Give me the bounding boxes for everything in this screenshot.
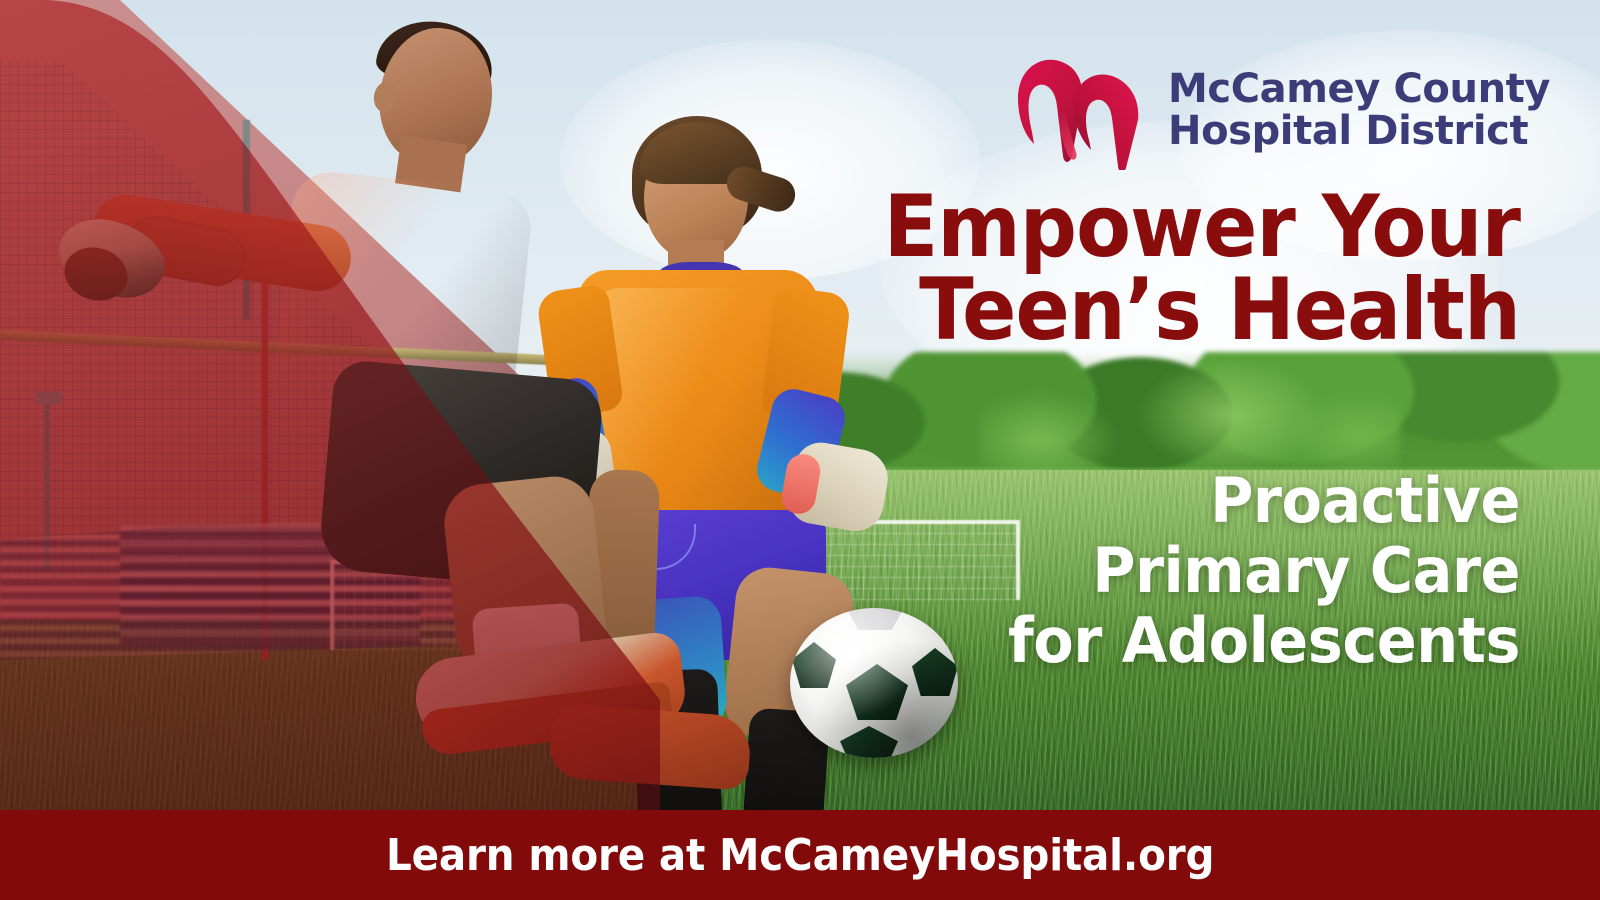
brand-logo[interactable]: McCamey County Hospital District xyxy=(1012,52,1550,170)
headline-line2: Teen’s Health xyxy=(813,269,1520,352)
headline: Empower Your Teen’s Health xyxy=(813,186,1520,353)
brand-wordmark: McCamey County Hospital District xyxy=(1168,69,1550,152)
subheadline-line2: Primary Care xyxy=(893,536,1520,606)
heart-m-logo-icon xyxy=(1012,52,1150,170)
brand-name-line1: McCamey County xyxy=(1168,69,1550,111)
subheadline-line1: Proactive xyxy=(893,466,1520,536)
footer-cta-bar[interactable]: Learn more at McCameyHospital.org xyxy=(0,810,1600,900)
footer-cta-text: Learn more at McCameyHospital.org xyxy=(386,830,1214,881)
subheadline-line3: for Adolescents xyxy=(893,606,1520,676)
brand-name-line2: Hospital District xyxy=(1168,111,1550,153)
headline-line1: Empower Your xyxy=(813,186,1520,269)
subheadline: Proactive Primary Care for Adolescents xyxy=(893,466,1520,676)
promotional-banner: McCamey County Hospital District Empower… xyxy=(0,0,1600,900)
